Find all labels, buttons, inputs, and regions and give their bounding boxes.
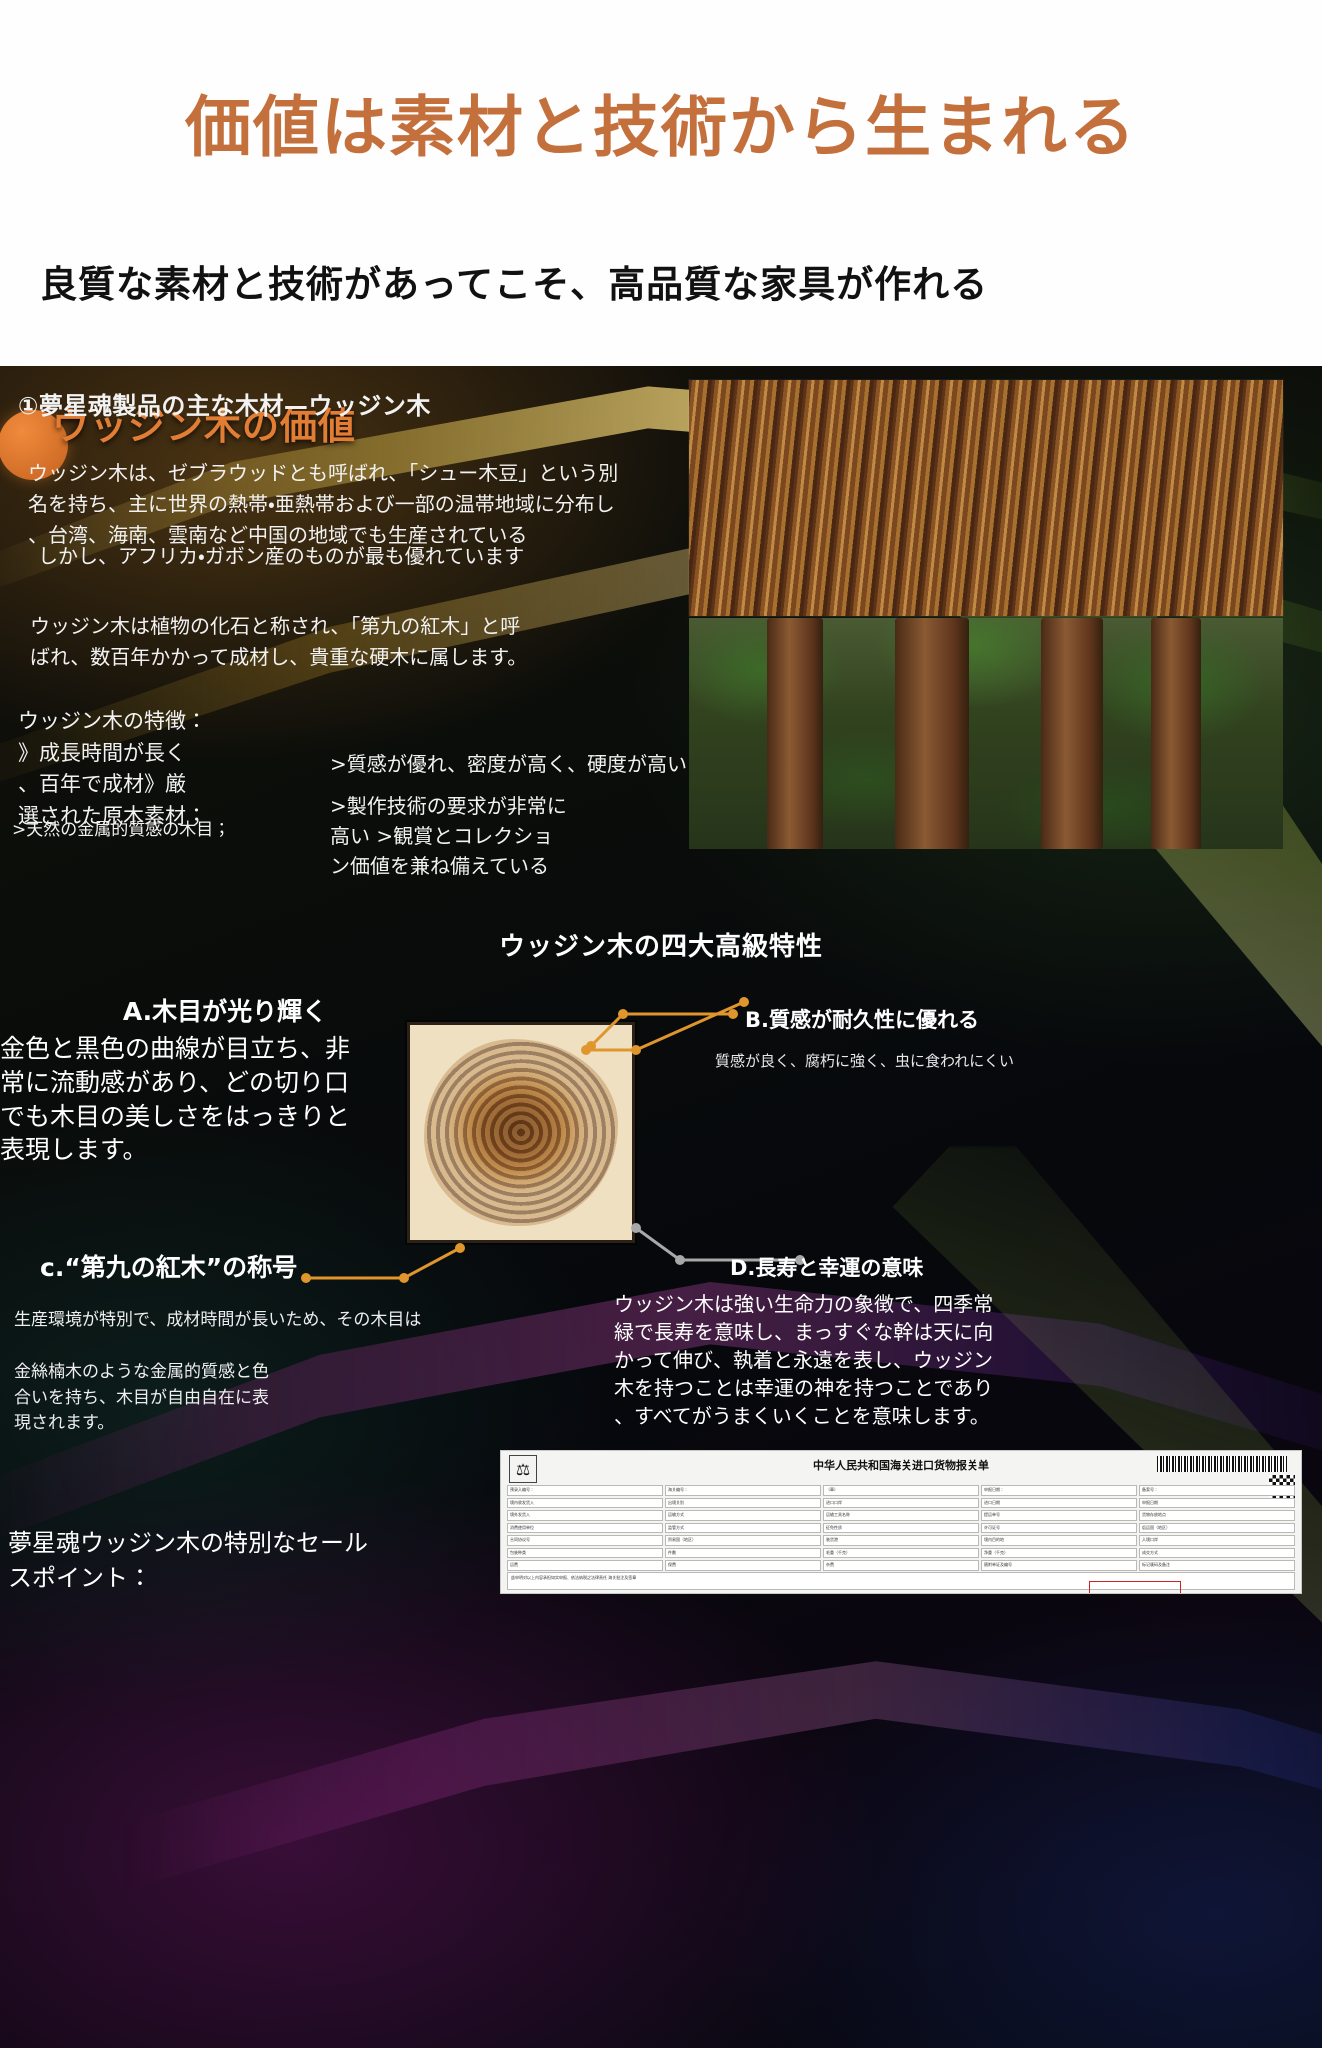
document-field-label: 出境关别: [668, 1500, 684, 1505]
light-ribbon-violet: [120, 1546, 1322, 2026]
document-field-cell: （章）: [823, 1485, 979, 1496]
document-field-label: 境外发货人: [510, 1512, 530, 1517]
document-field-label: 随附单证及编号: [984, 1562, 1012, 1567]
document-field-label: 包装种类: [510, 1550, 526, 1555]
document-field-label: （章）: [826, 1487, 838, 1492]
tree-trunk: [895, 618, 969, 849]
document-field-cell: 提运单号: [981, 1510, 1137, 1521]
block1-features-right-2: >製作技術の要求が非常に 高い >観賞とコレクショ ン価値を兼ね備えている: [330, 791, 580, 881]
wood-grain-image: [689, 380, 1283, 616]
document-field-label: 运费: [510, 1562, 518, 1567]
document-field-cell: 净重（千克）: [981, 1548, 1137, 1559]
document-field-cell: 出境关别: [665, 1498, 821, 1509]
document-field-cell: 运输方式: [665, 1510, 821, 1521]
document-field-cell: 申报日期: [1139, 1498, 1295, 1509]
document-field-label: 消费使用单位: [510, 1525, 534, 1530]
feature-a-title: A.木目が光り輝く: [60, 992, 390, 1028]
feature-b-body: 質感が良く、腐朽に強く、虫に食われにくい: [715, 1050, 1014, 1071]
document-field-cell: 件数: [665, 1548, 821, 1559]
document-footer-text: 兹申明对以上内容承担如实申报、依法纳税之法律责任 海关批注及签章: [511, 1575, 636, 1581]
red-stamp-box: [1089, 1581, 1181, 1594]
document-field-label: 运输工具名称: [826, 1512, 850, 1517]
document-field-cell: 成交方式: [1139, 1548, 1295, 1559]
block1-heading: ①夢星魂製品の主な木材—ウッジン木: [18, 386, 431, 421]
tree-trunk: [1151, 618, 1201, 849]
tree-trunk: [1041, 618, 1103, 849]
document-field-cell: 进口日期: [981, 1498, 1137, 1509]
document-field-cell: 征免性质: [823, 1523, 979, 1534]
four-features-title: ウッジン木の四大高級特性: [0, 926, 1322, 963]
page-subtitle: 良質な素材と技術があってこそ、高品質な家具が作れる: [40, 254, 1140, 308]
document-field-cell: 境内收发货人: [507, 1498, 663, 1509]
block1-features-left-2: >天然の金属的質感の木目；: [12, 818, 352, 844]
feature-c-title: c.“第九の紅木”の称号: [40, 1248, 297, 1284]
document-field-cell: 贸易国（地区）: [665, 1535, 821, 1546]
document-field-cell: 毛重（千克）: [823, 1548, 979, 1559]
document-field-cell: 货物存放地点: [1139, 1510, 1295, 1521]
customs-declaration-document: ⚖ 中华人民共和国海关进口货物报关单 预录入编号：海关编号：（章）申报日期：备案…: [500, 1450, 1302, 1594]
document-field-cell: 启运国（地区）: [1139, 1523, 1295, 1534]
document-field-grid: 预录入编号：海关编号：（章）申报日期：备案号：境内收发货人出境关别进口口岸进口日…: [507, 1485, 1295, 1571]
dark-content-canvas: ウッジン木の価値 ①夢星魂製品の主な木材—ウッジン木 ウッジン木は、ゼブラウッド…: [0, 366, 1322, 2048]
slide-page: 価値は素材と技術から生まれる 良質な素材と技術があってこそ、高品質な家具が作れる…: [0, 0, 1322, 2048]
document-field-label: 境内目的地: [984, 1537, 1004, 1542]
block1-paragraph-3: ウッジン木は植物の化石と称され、「第九の紅木」と呼 ばれ、数百年かかって成材し、…: [30, 611, 630, 673]
tree-trunk: [767, 618, 823, 849]
document-field-label: 境内收发货人: [510, 1500, 534, 1505]
document-field-cell: 随附单证及编号: [981, 1560, 1137, 1571]
feature-d-title: D.長寿と幸運の意味: [730, 1252, 923, 1282]
document-field-label: 提运单号: [984, 1512, 1000, 1517]
block1-features-left: ウッジン木の特徴： 》成長時間が長く 、百年で成材》厳 選された原木素材；: [18, 706, 348, 832]
document-field-label: 启运国（地区）: [1142, 1525, 1170, 1530]
barcode-icon: [1157, 1456, 1287, 1472]
forest-image: [689, 618, 1283, 849]
document-field-cell: 运费: [507, 1560, 663, 1571]
document-field-cell: 监管方式: [665, 1523, 821, 1534]
document-field-label: 备案号：: [1142, 1487, 1158, 1492]
document-field-label: 贸易国（地区）: [668, 1537, 696, 1542]
feature-a-body: 金色と黒色の曲線が目立ち、非 常に流動感があり、どの切り口 でも木目の美しさをは…: [0, 1032, 390, 1167]
bottom-selling-point-text: 夢星魂ウッジン木の特別なセール スポイント：: [8, 1526, 368, 1596]
document-field-cell: 备案号：: [1139, 1485, 1295, 1496]
document-field-label: 申报日期: [1142, 1500, 1158, 1505]
document-field-cell: 消费使用单位: [507, 1523, 663, 1534]
document-field-label: 海关编号：: [668, 1487, 688, 1492]
document-field-label: 入境口岸: [1142, 1537, 1158, 1542]
document-field-label: 进口日期: [984, 1500, 1000, 1505]
document-field-cell: 境外发货人: [507, 1510, 663, 1521]
document-field-label: 征免性质: [826, 1525, 842, 1530]
page-title: 価値は素材と技術から生まれる: [0, 92, 1322, 165]
document-field-label: 货物存放地点: [1142, 1512, 1166, 1517]
block1-features-right-1: >質感が優れ、密度が高く、硬度が高い: [330, 749, 710, 779]
block1-paragraph-1: ウッジン木は、ゼブラウッドとも呼ばれ、「シュー木豆」という別 名を持ち、主に世界…: [28, 458, 628, 551]
block-wood-intro: ①夢星魂製品の主な木材—ウッジン木 ウッジン木は、ゼブラウッドとも呼ばれ、「シュ…: [0, 366, 1322, 926]
document-field-cell: 装货港: [823, 1535, 979, 1546]
document-field-cell: 海关编号：: [665, 1485, 821, 1496]
document-field-label: 净重（千克）: [984, 1550, 1008, 1555]
document-field-label: 申报日期：: [984, 1487, 1004, 1492]
connector-c-icon: [300, 1242, 490, 1304]
document-field-cell: 进口口岸: [823, 1498, 979, 1509]
connector-a-to-b-icon: [585, 998, 740, 1052]
document-field-label: 毛重（千克）: [826, 1550, 850, 1555]
feature-c-body-1: 生産環境が特別で、成材時間が長いため、その木目は: [14, 1308, 421, 1334]
document-field-cell: 入境口岸: [1139, 1535, 1295, 1546]
document-field-label: 合同协议号: [510, 1537, 530, 1542]
document-field-label: 预录入编号：: [510, 1487, 534, 1492]
document-field-label: 保费: [668, 1562, 676, 1567]
document-field-label: 运输方式: [668, 1512, 684, 1517]
document-field-label: 杂费: [826, 1562, 834, 1567]
document-field-label: 许可证号: [984, 1525, 1000, 1530]
document-field-cell: 许可证号: [981, 1523, 1137, 1534]
document-field-label: 装货港: [826, 1537, 838, 1542]
document-field-label: 进口口岸: [826, 1500, 842, 1505]
document-field-label: 标记唛码及备注: [1142, 1562, 1170, 1567]
document-field-cell: 杂费: [823, 1560, 979, 1571]
document-field-label: 监管方式: [668, 1525, 684, 1530]
document-field-cell: 申报日期：: [981, 1485, 1137, 1496]
feature-c-body-2: 金絲楠木のような金属的質感と色 合いを持ち、木目が自由自在に表 現されます。: [14, 1360, 334, 1437]
feature-b-title: B.質感が耐久性に優れる: [745, 1004, 979, 1034]
document-field-label: 件数: [668, 1550, 676, 1555]
document-field-label: 成交方式: [1142, 1550, 1158, 1555]
document-field-cell: 境内目的地: [981, 1535, 1137, 1546]
document-field-cell: 标记唛码及备注: [1139, 1560, 1295, 1571]
feature-d-body: ウッジン木は強い生命力の象徴で、四季常 緑で長寿を意味し、まっすぐな幹は天に向 …: [614, 1290, 1014, 1430]
block1-paragraph-2: しかし、アフリカ・ガボン産のものが最も優れています: [38, 541, 638, 572]
document-field-cell: 保费: [665, 1560, 821, 1571]
document-field-cell: 运输工具名称: [823, 1510, 979, 1521]
document-field-cell: 合同协议号: [507, 1535, 663, 1546]
document-field-cell: 预录入编号：: [507, 1485, 663, 1496]
header-band: 価値は素材と技術から生まれる 良質な素材と技術があってこそ、高品質な家具が作れる: [0, 0, 1322, 366]
document-field-cell: 包装种类: [507, 1548, 663, 1559]
